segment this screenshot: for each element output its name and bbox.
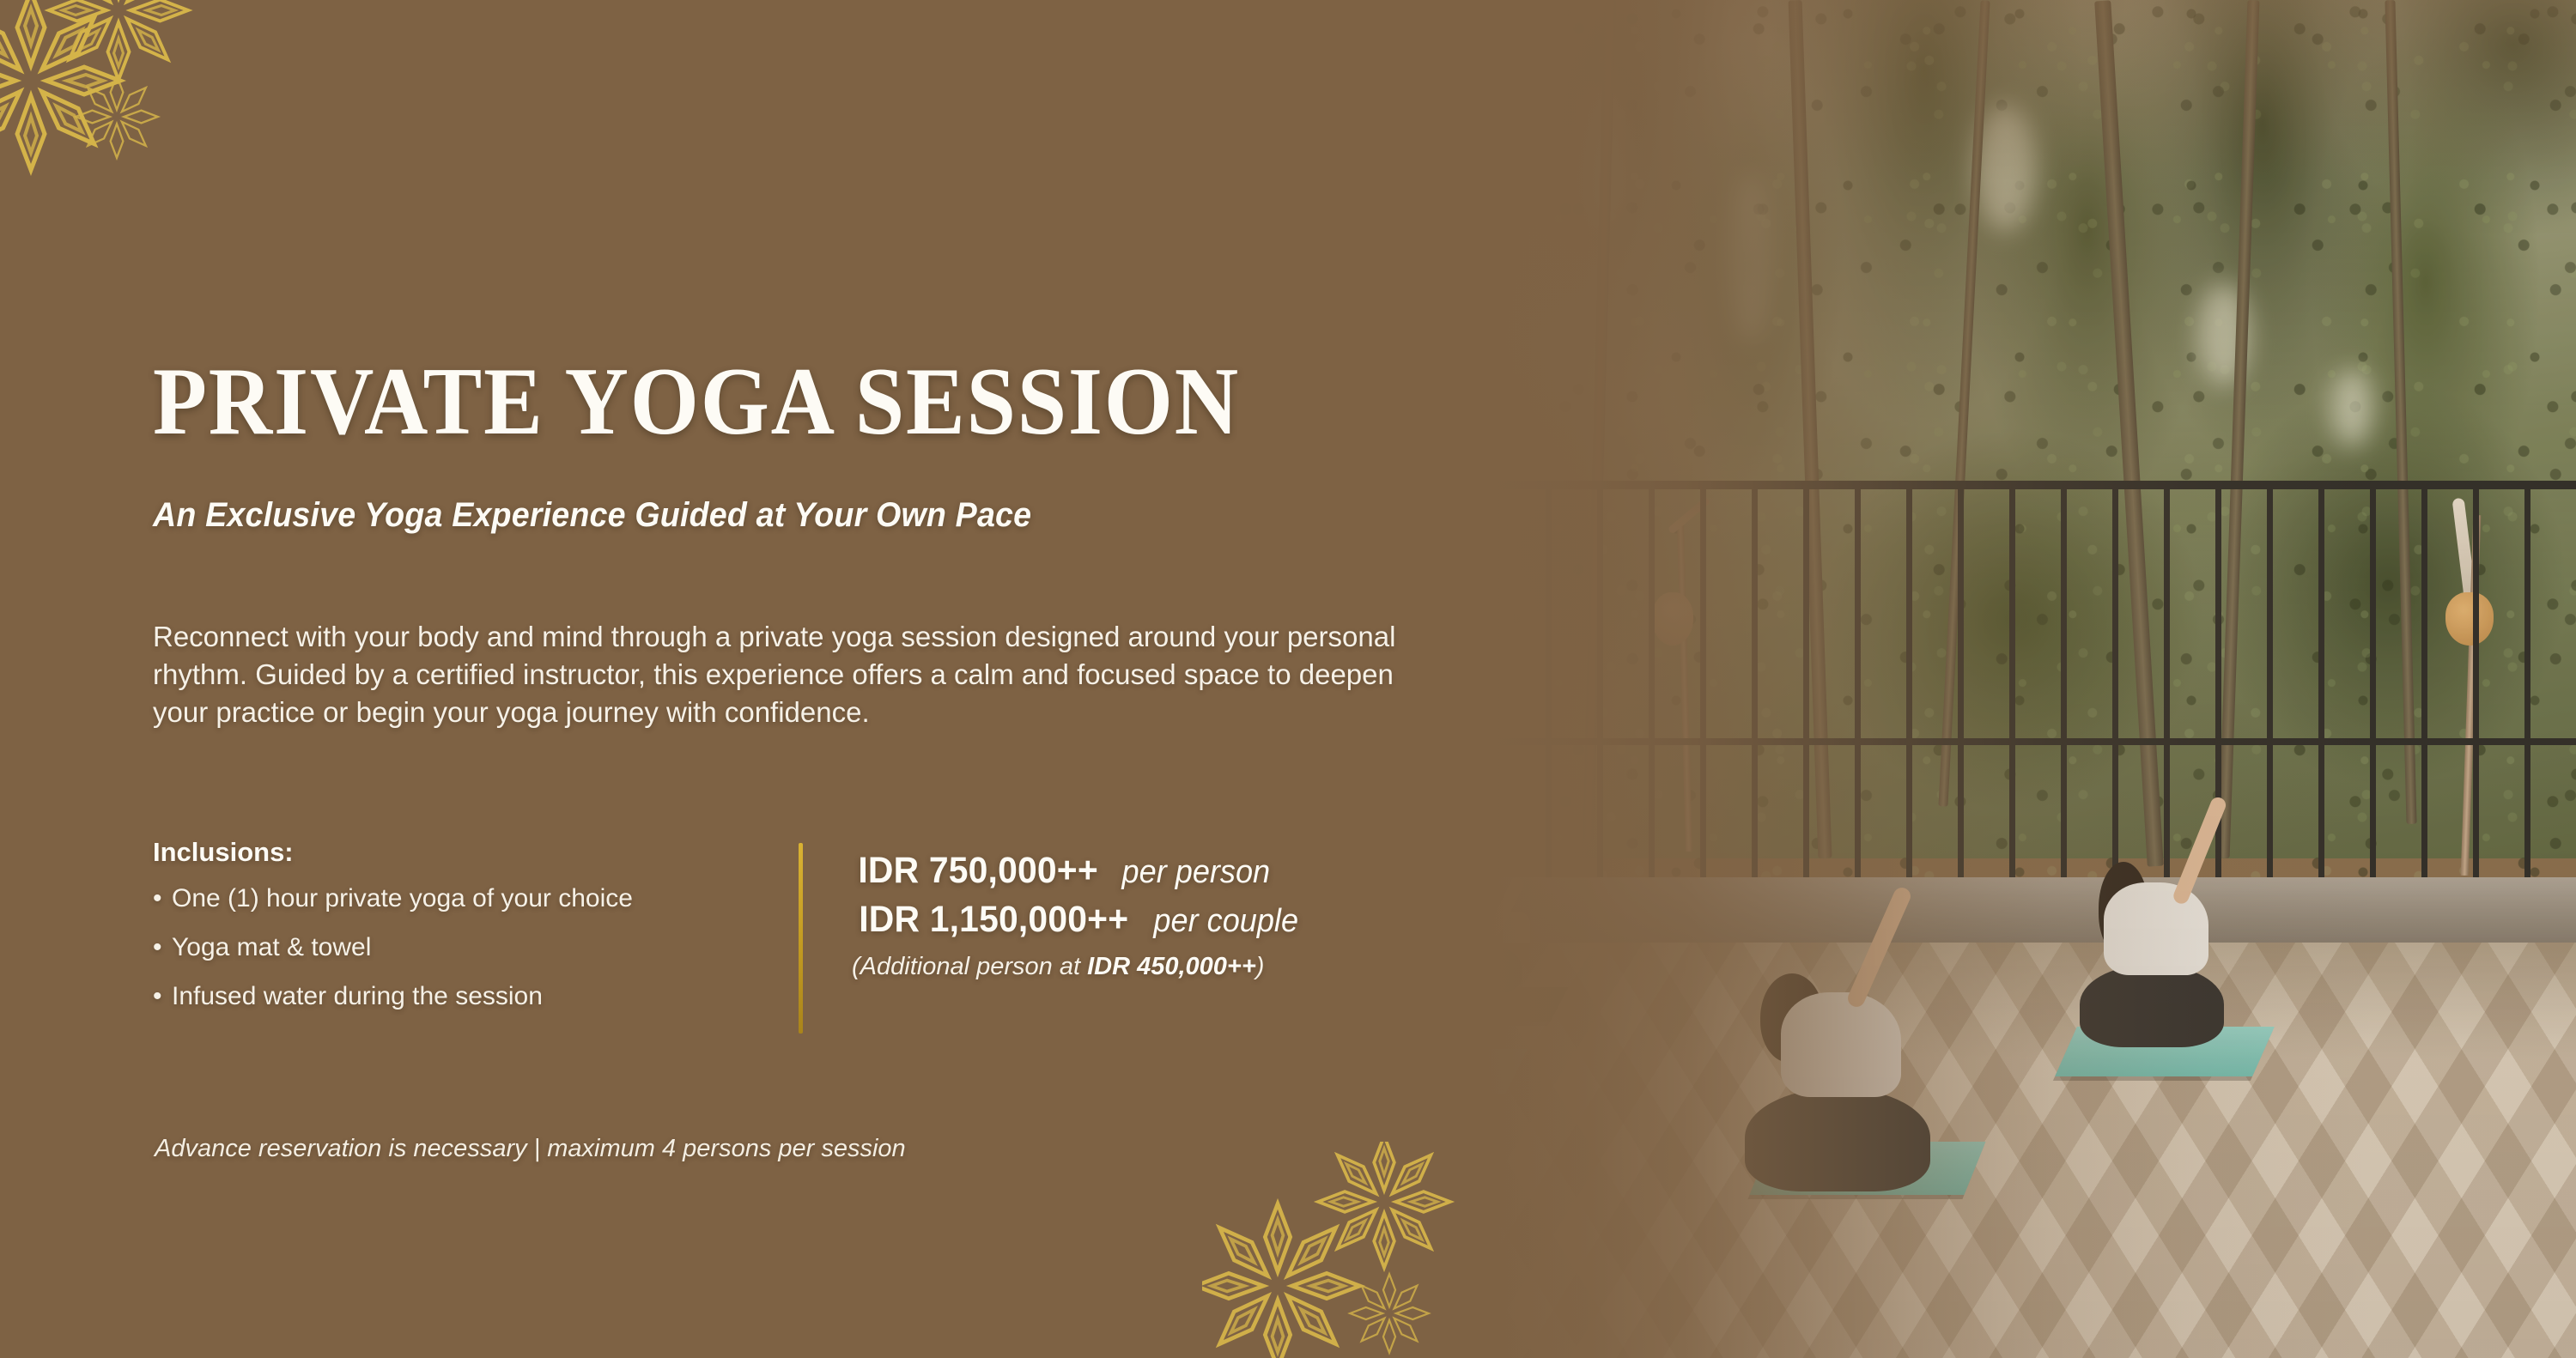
note-amount: IDR 450,000++ bbox=[1087, 953, 1256, 980]
page-title: PRIVATE YOGA SESSION bbox=[153, 347, 1240, 458]
poster-content: PRIVATE YOGA SESSION An Exclusive Yoga E… bbox=[0, 0, 1546, 1358]
bullet-icon: • bbox=[153, 931, 172, 965]
price-amount: IDR 750,000++ bbox=[858, 850, 1098, 892]
bullet-icon: • bbox=[153, 979, 172, 1014]
price-unit: per couple bbox=[1153, 903, 1298, 940]
list-item-label: Infused water during the session bbox=[172, 979, 543, 1014]
note-suffix: ) bbox=[1256, 953, 1265, 980]
reservation-footnote: Advance reservation is necessary | maxim… bbox=[155, 1135, 906, 1163]
list-item: • One (1) hour private yoga of your choi… bbox=[153, 882, 771, 916]
bullet-icon: • bbox=[153, 882, 172, 916]
description-paragraph: Reconnect with your body and mind throug… bbox=[153, 618, 1424, 731]
list-item: • Infused water during the session bbox=[153, 979, 771, 1014]
poster-canvas: PRIVATE YOGA SESSION An Exclusive Yoga E… bbox=[0, 0, 2576, 1358]
list-item: • Yoga mat & towel bbox=[153, 931, 771, 965]
price-row: IDR 750,000++ per person bbox=[852, 850, 1302, 892]
inclusions-heading: Inclusions: bbox=[153, 837, 771, 868]
page-subtitle: An Exclusive Yoga Experience Guided at Y… bbox=[153, 496, 1031, 535]
price-unit: per person bbox=[1122, 854, 1271, 891]
additional-person-note: (Additional person at IDR 450,000++) bbox=[852, 953, 1302, 981]
list-item-label: Yoga mat & towel bbox=[172, 931, 371, 965]
list-item-label: One (1) hour private yoga of your choice bbox=[172, 882, 633, 916]
note-prefix: (Additional person at bbox=[852, 953, 1087, 980]
pricing-section: IDR 750,000++ per person IDR 1,150,000++… bbox=[852, 850, 1302, 981]
inclusions-section: Inclusions: • One (1) hour private yoga … bbox=[153, 837, 771, 1028]
gold-vertical-divider bbox=[799, 843, 803, 1034]
price-amount: IDR 1,150,000++ bbox=[859, 899, 1128, 941]
price-row: IDR 1,150,000++ per couple bbox=[852, 899, 1302, 941]
